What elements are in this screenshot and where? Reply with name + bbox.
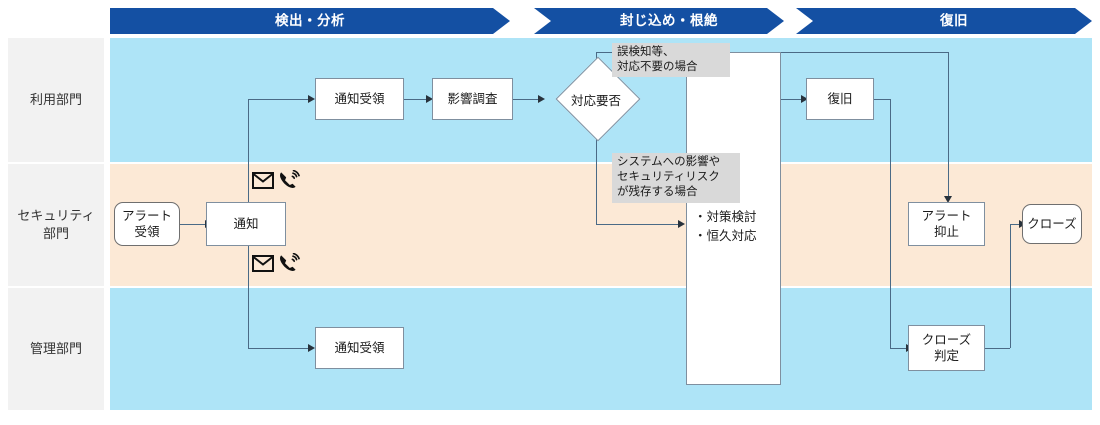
phase-banner-detection: 検出・分析 bbox=[110, 8, 510, 34]
connector-survey-to-decision bbox=[513, 99, 540, 100]
incident-response-flowchart: 検出・分析 封じ込め・根絶 復旧 利用部門 セキュリティ 部門 管理部門 bbox=[0, 0, 1100, 425]
arrow-head-user-notice bbox=[308, 95, 315, 103]
node-label: 復旧 bbox=[827, 91, 852, 107]
node-label: 通知 bbox=[233, 216, 258, 232]
lane-label-text: 利用部門 bbox=[30, 91, 82, 109]
connector-close-judgement-exit bbox=[985, 348, 1010, 349]
annotation-line2: 対応不要の場合 bbox=[617, 60, 725, 75]
node-notify[interactable]: 通知 bbox=[206, 202, 286, 246]
node-close[interactable]: クローズ bbox=[1022, 204, 1082, 244]
connector-restore-to-close-judgement bbox=[890, 99, 891, 348]
lane-label-text-line1: セキュリティ bbox=[17, 207, 94, 225]
lane-label-management: 管理部門 bbox=[8, 288, 104, 410]
mail-icon bbox=[252, 255, 274, 272]
node-label-line2: 抑止 bbox=[934, 224, 959, 240]
annotation-line1: 誤検知等、 bbox=[617, 45, 725, 60]
lane-label-text-line2: 部門 bbox=[43, 225, 69, 243]
node-label: 通知受領 bbox=[334, 340, 384, 356]
mail-icon bbox=[252, 172, 274, 189]
node-notice-received-management[interactable]: 通知受領 bbox=[315, 327, 404, 369]
arrow-head-countermeasure bbox=[678, 220, 685, 228]
lane-label-text: 管理部門 bbox=[30, 340, 82, 358]
annotation-no-action-needed: 誤検知等、 対応不要の場合 bbox=[612, 43, 730, 77]
node-notice-received-user[interactable]: 通知受領 bbox=[315, 78, 404, 120]
annotation-risk-remains: システムへの影響や セキュリティリスク が残存する場合 bbox=[612, 153, 740, 203]
bullet-countermeasure-study: ・対策検討 bbox=[694, 208, 780, 227]
node-close-judgement[interactable]: クローズ 判定 bbox=[908, 325, 985, 371]
connector-trunk-to-mgmt-notice bbox=[248, 348, 310, 349]
node-alert-received[interactable]: アラート 受領 bbox=[114, 202, 180, 246]
channel-icons-lower bbox=[252, 253, 300, 273]
annotation-line3: が残存する場合 bbox=[617, 185, 735, 200]
connector-decision-to-countermeasure bbox=[596, 224, 680, 225]
phase-label-containment: 封じ込め・根絶 bbox=[534, 8, 794, 34]
node-restore[interactable]: 復旧 bbox=[806, 78, 874, 120]
bullet-permanent-response: ・恒久対応 bbox=[694, 227, 780, 246]
connector-countermeasure-to-restore bbox=[781, 99, 803, 100]
phase-banner-recovery: 復旧 bbox=[796, 8, 1092, 34]
connector-alert-to-notify bbox=[180, 224, 206, 225]
connector-close-riser bbox=[1010, 224, 1011, 348]
lane-label-security: セキュリティ 部門 bbox=[8, 164, 104, 286]
node-label-line1: アラート bbox=[921, 208, 971, 224]
node-label-line2: 受領 bbox=[134, 224, 159, 240]
annotation-line1: システムへの影響や bbox=[617, 155, 735, 170]
node-label: 影響調査 bbox=[447, 91, 497, 107]
connector-notice-to-survey bbox=[404, 99, 428, 100]
node-decision-response-needed[interactable]: 対応要否 bbox=[543, 71, 649, 127]
node-label-line2: 判定 bbox=[934, 348, 959, 364]
lane-label-user: 利用部門 bbox=[8, 38, 104, 162]
node-label: 通知受領 bbox=[334, 91, 384, 107]
annotation-line2: セキュリティリスク bbox=[617, 170, 735, 185]
node-impact-survey[interactable]: 影響調査 bbox=[432, 78, 513, 120]
node-label-line1: クローズ bbox=[922, 332, 971, 348]
connector-trunk-to-user-notice bbox=[248, 99, 310, 100]
node-label: クローズ bbox=[1027, 216, 1076, 232]
node-countermeasure-bullets: ・対策検討 ・恒久対応 bbox=[694, 208, 780, 247]
connector-restore-exit bbox=[874, 99, 890, 100]
node-label-line1: アラート bbox=[122, 208, 172, 224]
phase-label-detection: 検出・分析 bbox=[110, 8, 510, 34]
channel-icons-upper bbox=[252, 170, 300, 190]
phone-icon bbox=[278, 253, 300, 273]
phase-banner-containment: 封じ込め・根絶 bbox=[534, 8, 784, 34]
arrow-head-mgmt-notice bbox=[308, 344, 315, 352]
phase-label-recovery: 復旧 bbox=[796, 8, 1100, 34]
connector-no-action-down-to-suppress bbox=[948, 52, 949, 197]
phone-icon bbox=[278, 170, 300, 190]
node-alert-suppression[interactable]: アラート 抑止 bbox=[908, 202, 985, 246]
node-label: 対応要否 bbox=[543, 71, 649, 127]
